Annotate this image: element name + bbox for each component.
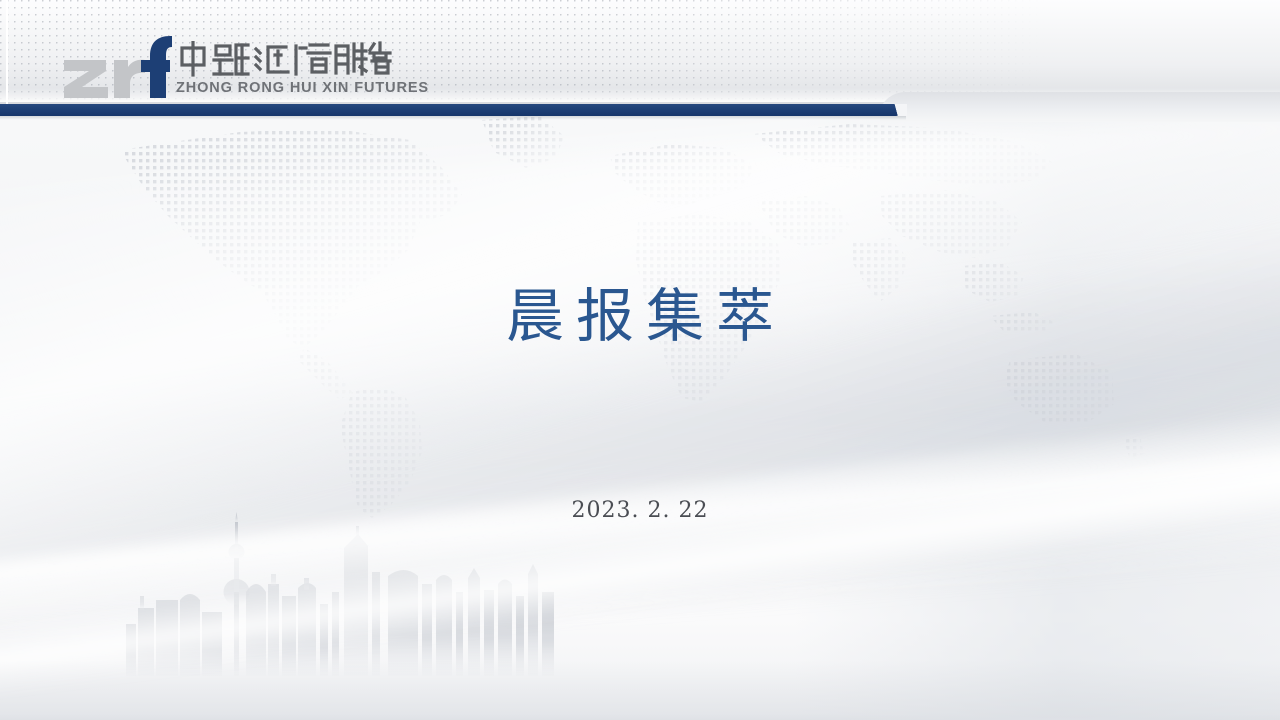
navy-bar-shadow xyxy=(0,116,906,120)
header-right-wedge xyxy=(880,92,1280,122)
ground-strip xyxy=(0,660,1280,720)
bottom-edge-shade xyxy=(0,714,1280,720)
navy-accent-bar xyxy=(0,104,906,116)
page-title: 晨报集萃 xyxy=(0,283,1280,350)
company-name-cn-icon xyxy=(176,41,429,77)
zrf-logomark-icon xyxy=(62,34,172,100)
company-logo: ZHONG RONG HUI XIN FUTURES xyxy=(62,30,429,100)
slide-date: 2023. 2. 22 xyxy=(0,498,1280,523)
company-name-en: ZHONG RONG HUI XIN FUTURES xyxy=(176,80,429,96)
left-accent-rule xyxy=(6,0,8,104)
presentation-slide: ZHONG RONG HUI XIN FUTURES 晨报集萃 2023. 2.… xyxy=(0,0,1280,720)
